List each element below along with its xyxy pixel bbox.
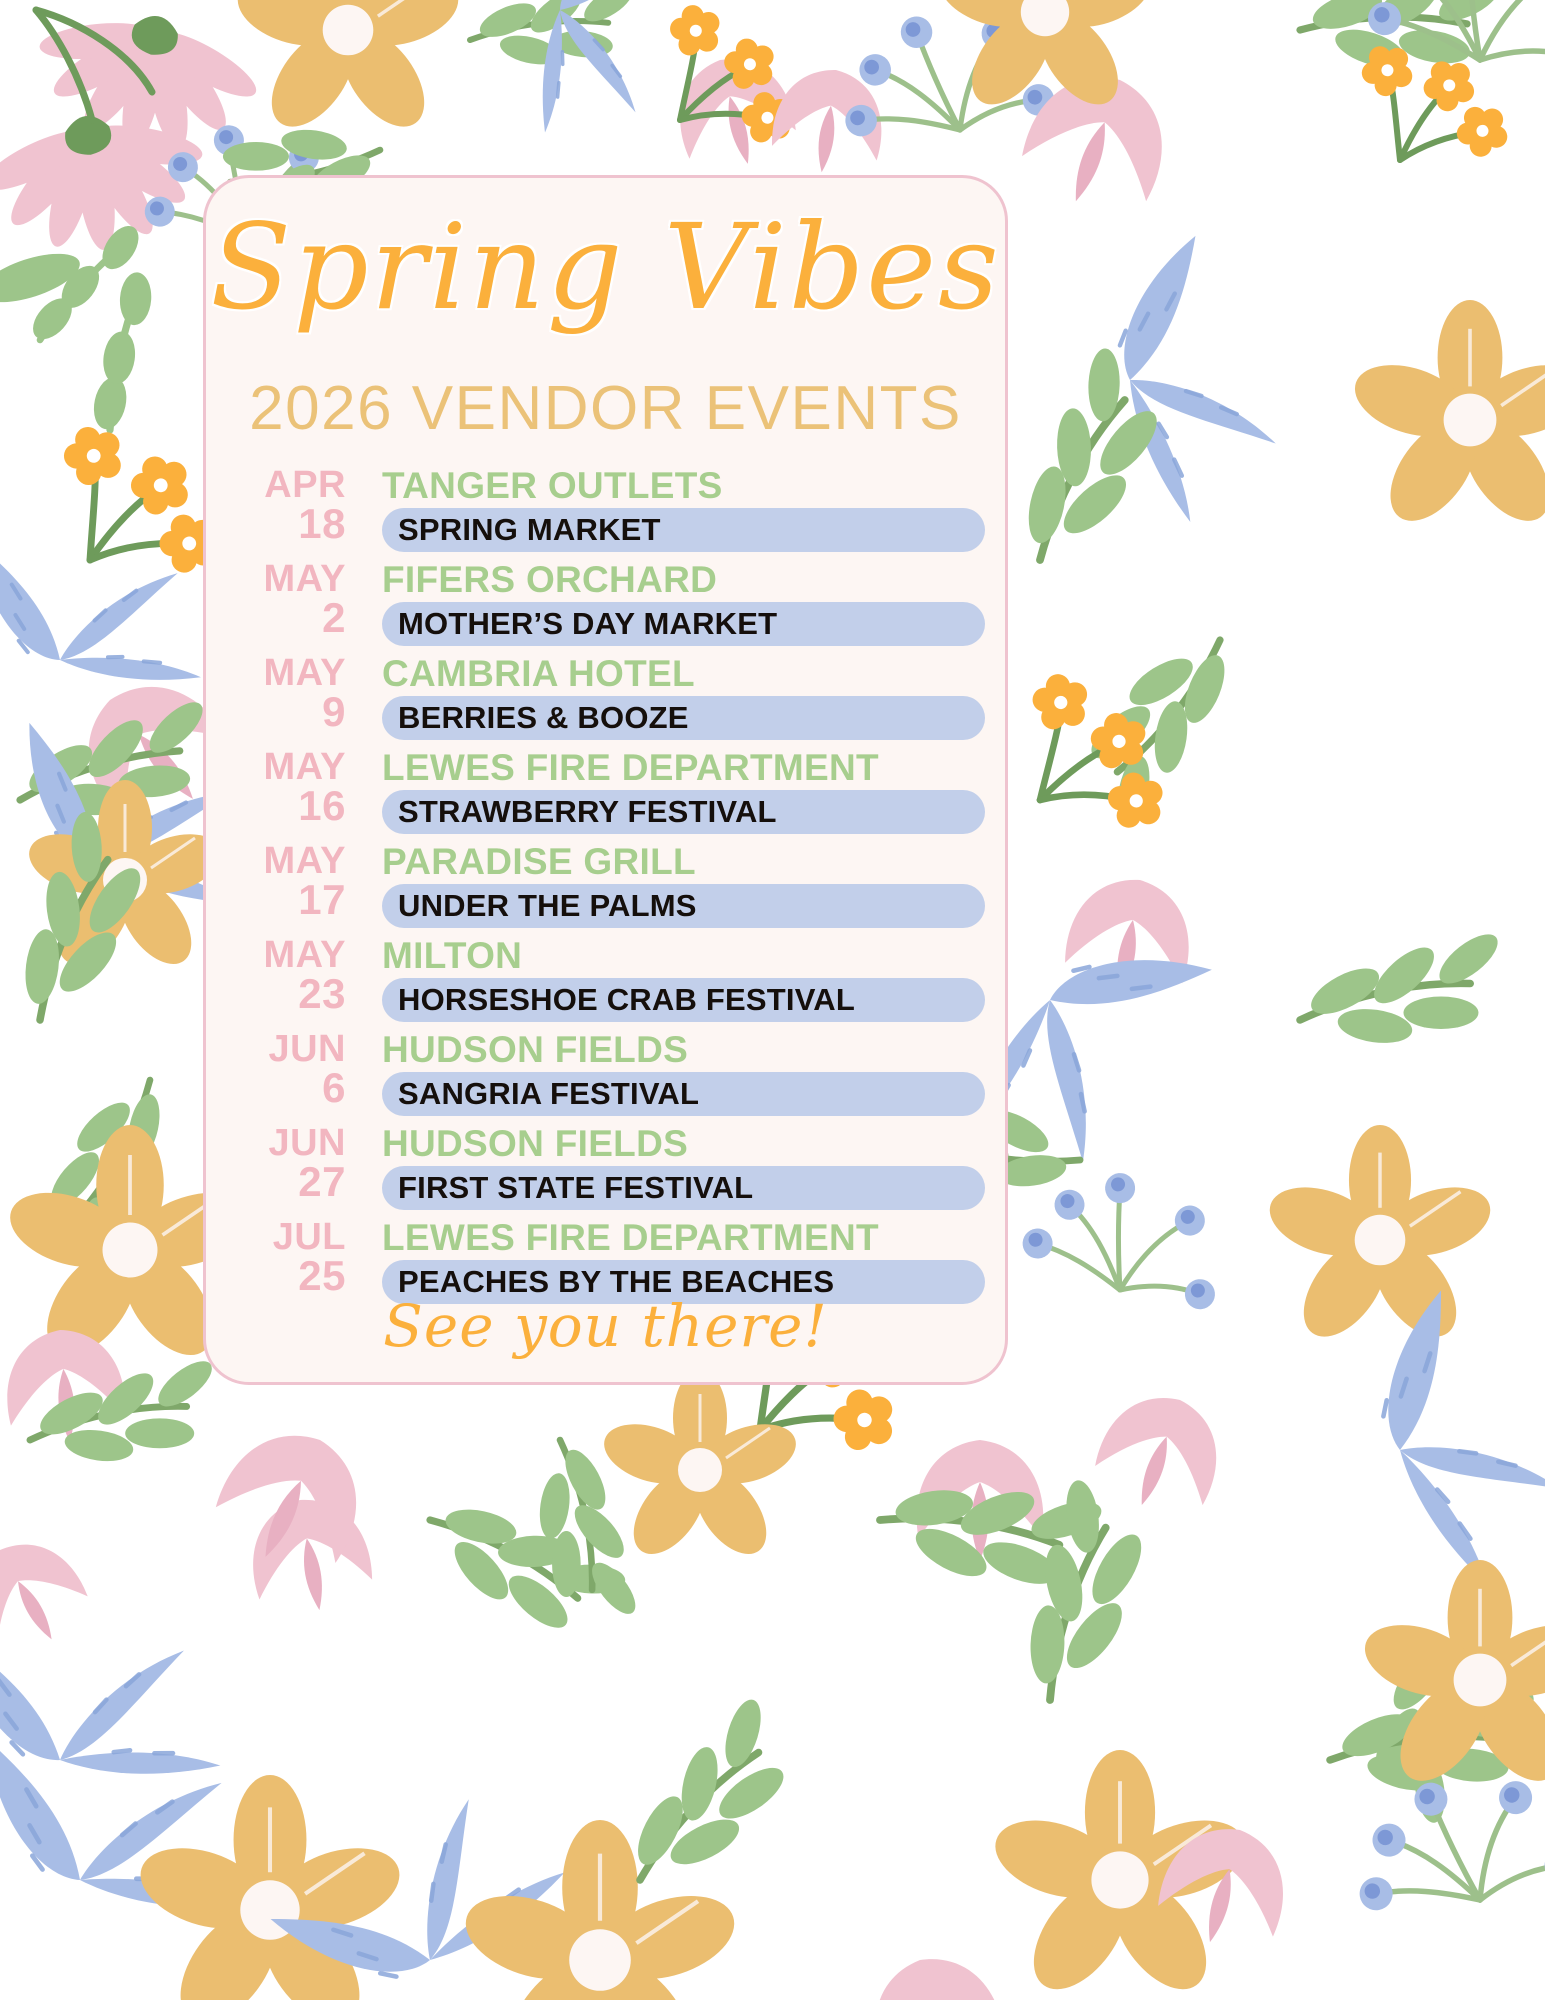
event-date: MAY 16 bbox=[234, 750, 346, 825]
event-date: MAY 23 bbox=[234, 938, 346, 1013]
event-details: CAMBRIA HOTEL BERRIES & BOOZE bbox=[382, 654, 985, 740]
event-venue: CAMBRIA HOTEL bbox=[382, 654, 985, 694]
event-date: MAY 2 bbox=[234, 562, 346, 637]
event-row[interactable]: MAY 23 MILTON HORSESHOE CRAB FESTIVAL bbox=[234, 936, 985, 1030]
event-details: HUDSON FIELDS SANGRIA FESTIVAL bbox=[382, 1030, 985, 1116]
event-name-pill: SANGRIA FESTIVAL bbox=[382, 1072, 985, 1116]
event-day: 23 bbox=[234, 974, 346, 1013]
event-details: LEWES FIRE DEPARTMENT STRAWBERRY FESTIVA… bbox=[382, 748, 985, 834]
event-name-pill: UNDER THE PALMS bbox=[382, 884, 985, 928]
event-row[interactable]: MAY 2 FIFERS ORCHARD MOTHER’S DAY MARKET bbox=[234, 560, 985, 654]
event-month: MAY bbox=[234, 750, 346, 786]
event-row[interactable]: MAY 17 PARADISE GRILL UNDER THE PALMS bbox=[234, 842, 985, 936]
event-details: HUDSON FIELDS FIRST STATE FESTIVAL bbox=[382, 1124, 985, 1210]
event-date: APR 18 bbox=[234, 468, 346, 543]
event-name-pill: HORSESHOE CRAB FESTIVAL bbox=[382, 978, 985, 1022]
event-details: PARADISE GRILL UNDER THE PALMS bbox=[382, 842, 985, 928]
event-details: MILTON HORSESHOE CRAB FESTIVAL bbox=[382, 936, 985, 1022]
event-details: TANGER OUTLETS SPRING MARKET bbox=[382, 466, 985, 552]
event-row[interactable]: APR 18 TANGER OUTLETS SPRING MARKET bbox=[234, 466, 985, 560]
event-month: MAY bbox=[234, 938, 346, 974]
event-day: 9 bbox=[234, 692, 346, 731]
event-day: 18 bbox=[234, 504, 346, 543]
event-day: 27 bbox=[234, 1162, 346, 1201]
event-date: MAY 9 bbox=[234, 656, 346, 731]
event-day: 6 bbox=[234, 1068, 346, 1107]
event-month: MAY bbox=[234, 844, 346, 880]
event-day: 25 bbox=[234, 1256, 346, 1295]
event-day: 16 bbox=[234, 786, 346, 825]
event-month: MAY bbox=[234, 656, 346, 692]
event-venue: TANGER OUTLETS bbox=[382, 466, 985, 506]
event-venue: PARADISE GRILL bbox=[382, 842, 985, 882]
event-name-pill: SPRING MARKET bbox=[382, 508, 985, 552]
poster-subtitle: 2026 VENDOR EVENTS bbox=[206, 373, 1005, 444]
event-name-pill: MOTHER’S DAY MARKET bbox=[382, 602, 985, 646]
event-date: JUN 6 bbox=[234, 1032, 346, 1107]
event-day: 17 bbox=[234, 880, 346, 919]
event-row[interactable]: MAY 16 LEWES FIRE DEPARTMENT STRAWBERRY … bbox=[234, 748, 985, 842]
event-row[interactable]: JUN 27 HUDSON FIELDS FIRST STATE FESTIVA… bbox=[234, 1124, 985, 1218]
event-month: JUN bbox=[234, 1032, 346, 1068]
closing-message: See you there! bbox=[206, 1292, 1005, 1360]
event-venue: FIFERS ORCHARD bbox=[382, 560, 985, 600]
event-date: JUN 27 bbox=[234, 1126, 346, 1201]
event-month: JUL bbox=[234, 1220, 346, 1256]
event-date: JUL 25 bbox=[234, 1220, 346, 1295]
event-list: APR 18 TANGER OUTLETS SPRING MARKET MAY … bbox=[234, 466, 985, 1312]
event-date: MAY 17 bbox=[234, 844, 346, 919]
event-month: JUN bbox=[234, 1126, 346, 1162]
event-venue: LEWES FIRE DEPARTMENT bbox=[382, 1218, 985, 1258]
event-venue: LEWES FIRE DEPARTMENT bbox=[382, 748, 985, 788]
event-card: Spring Vibes 2026 VENDOR EVENTS APR 18 T… bbox=[203, 175, 1008, 1385]
event-row[interactable]: JUN 6 HUDSON FIELDS SANGRIA FESTIVAL bbox=[234, 1030, 985, 1124]
poster-title-script: Spring Vibes bbox=[206, 206, 1005, 330]
event-row[interactable]: MAY 9 CAMBRIA HOTEL BERRIES & BOOZE bbox=[234, 654, 985, 748]
event-details: FIFERS ORCHARD MOTHER’S DAY MARKET bbox=[382, 560, 985, 646]
event-month: MAY bbox=[234, 562, 346, 598]
event-day: 2 bbox=[234, 598, 346, 637]
event-name-pill: STRAWBERRY FESTIVAL bbox=[382, 790, 985, 834]
event-venue: HUDSON FIELDS bbox=[382, 1030, 985, 1070]
event-name-pill: BERRIES & BOOZE bbox=[382, 696, 985, 740]
event-name-pill: FIRST STATE FESTIVAL bbox=[382, 1166, 985, 1210]
poster: Spring Vibes 2026 VENDOR EVENTS APR 18 T… bbox=[0, 0, 1545, 2000]
event-venue: HUDSON FIELDS bbox=[382, 1124, 985, 1164]
event-venue: MILTON bbox=[382, 936, 985, 976]
event-month: APR bbox=[234, 468, 346, 504]
